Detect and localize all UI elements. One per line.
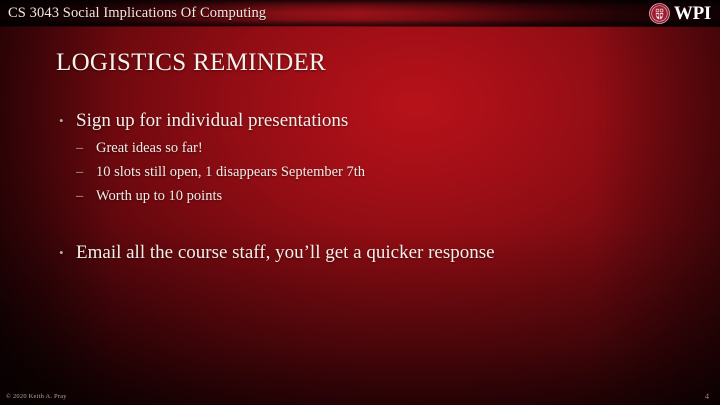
bullet-spacer bbox=[56, 208, 676, 238]
course-title: CS 3043 Social Implications Of Computing bbox=[8, 2, 266, 24]
header-hairline bbox=[0, 26, 720, 27]
slide-title: LOGISTICS REMINDER bbox=[56, 48, 326, 78]
bullet-item: – 10 slots still open, 1 disappears Sept… bbox=[56, 160, 676, 184]
bullet-marker-icon: • bbox=[59, 106, 69, 136]
bullet-item: – Great ideas so far! bbox=[56, 136, 676, 160]
bullet-text: Great ideas so far! bbox=[96, 140, 203, 156]
bullet-item: • Sign up for individual presentations bbox=[56, 106, 676, 136]
wpi-logo: WPI bbox=[649, 1, 711, 26]
wpi-wordmark: WPI bbox=[674, 4, 711, 23]
bullet-text: Worth up to 10 points bbox=[96, 188, 222, 204]
bullet-text: 10 slots still open, 1 disappears Septem… bbox=[96, 164, 365, 180]
bullet-dash-icon: – bbox=[76, 136, 90, 160]
bullet-dash-icon: – bbox=[76, 184, 90, 208]
page-number: 4 bbox=[705, 392, 709, 402]
presentation-slide: CS 3043 Social Implications Of Computing… bbox=[0, 0, 720, 405]
wpi-seal-icon bbox=[649, 3, 670, 24]
bullet-dash-icon: – bbox=[76, 160, 90, 184]
bullet-marker-icon: • bbox=[59, 238, 69, 268]
slide-body: • Sign up for individual presentations –… bbox=[56, 106, 676, 268]
bullet-text: Sign up for individual presentations bbox=[76, 110, 348, 131]
bullet-item: – Worth up to 10 points bbox=[56, 184, 676, 208]
footer-copyright: © 2020 Keith A. Pray bbox=[6, 392, 67, 401]
bullet-item: • Email all the course staff, you’ll get… bbox=[56, 238, 676, 268]
bullet-text: Email all the course staff, you’ll get a… bbox=[76, 242, 495, 263]
